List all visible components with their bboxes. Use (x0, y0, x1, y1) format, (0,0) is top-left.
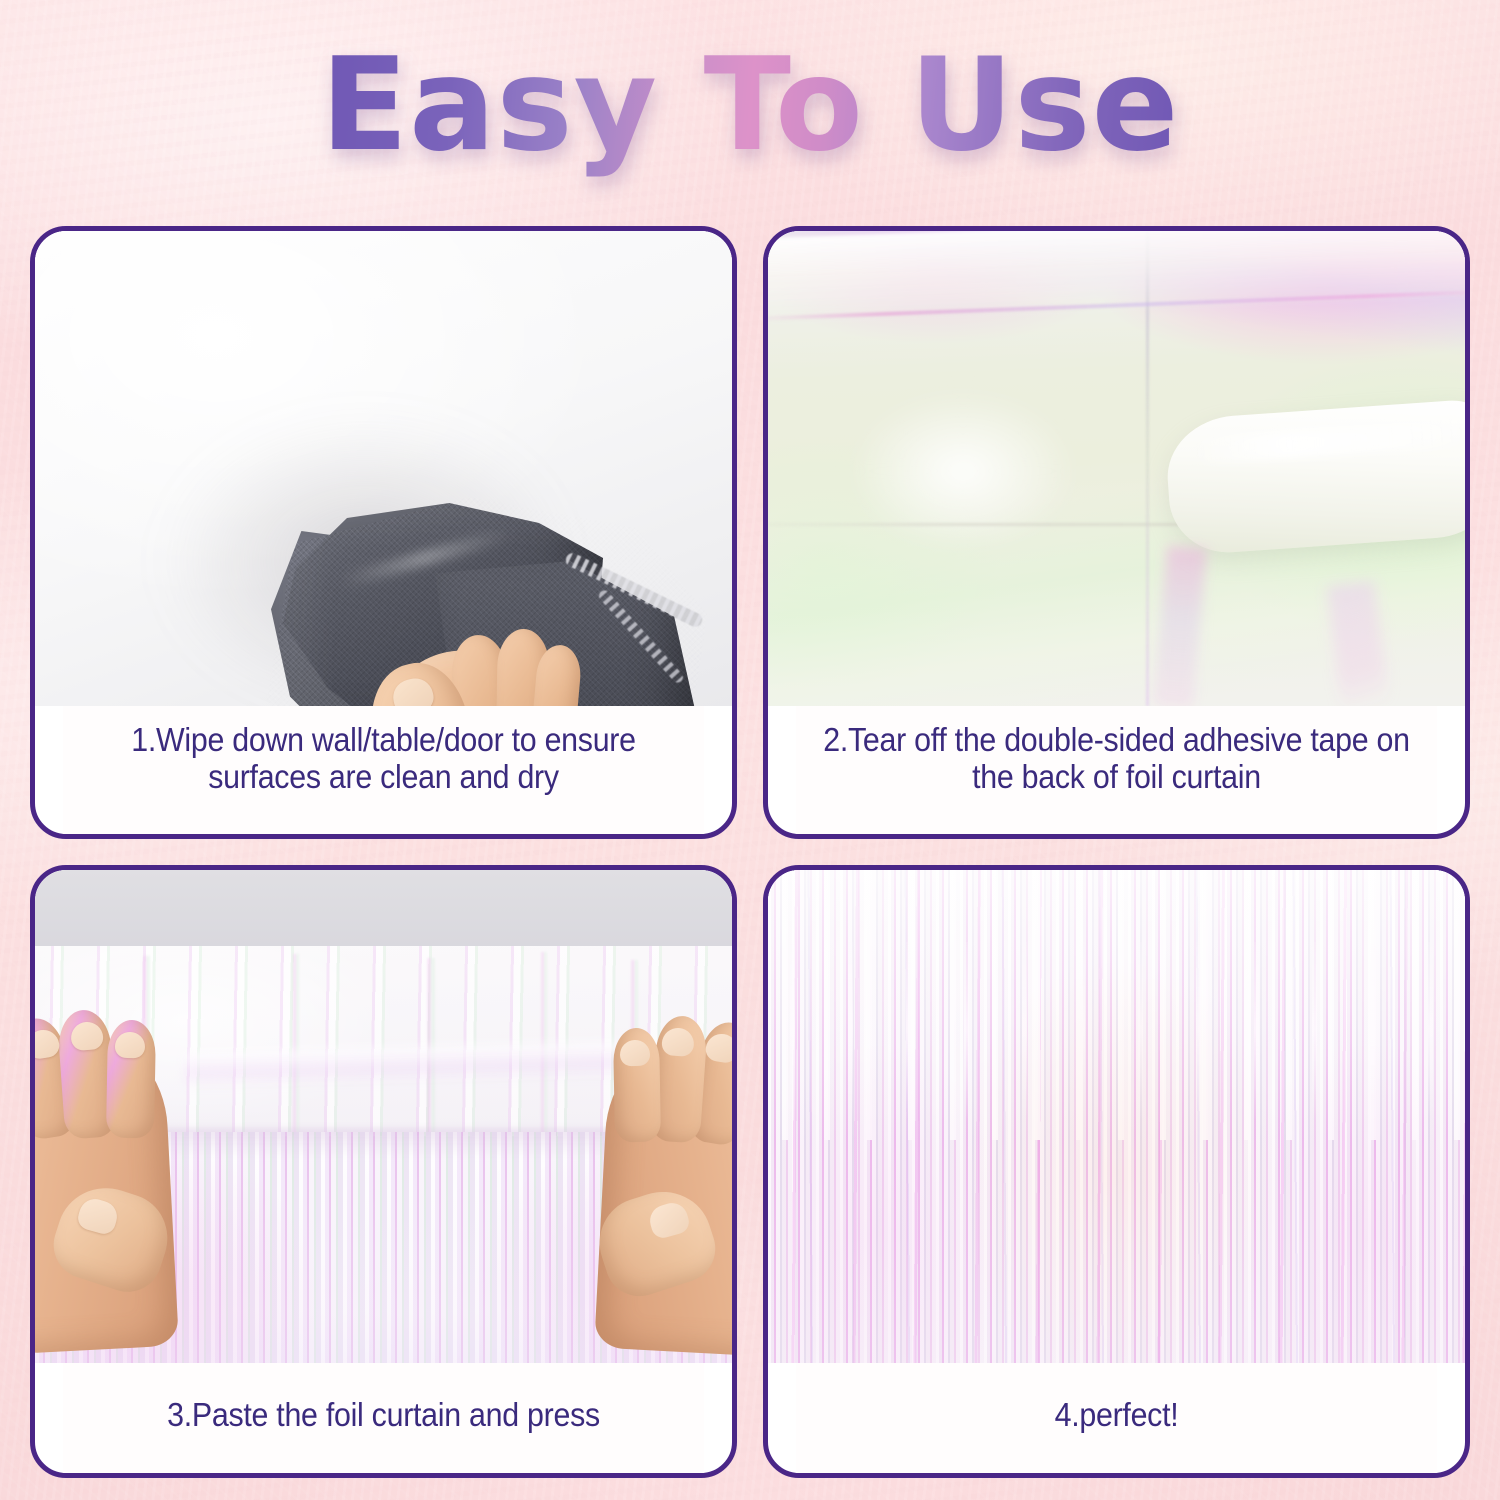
step-1-caption: 1.Wipe down wall/table/door to ensure su… (63, 706, 704, 834)
foil-wrinkle-2 (293, 954, 299, 1136)
step-4-photo (768, 870, 1465, 1363)
step-2-photo (768, 231, 1465, 706)
grey-wall-strip (35, 870, 732, 946)
step-1-photo (35, 231, 732, 706)
step-2-caption: 2.Tear off the double-sided adhesive tap… (796, 706, 1437, 834)
step-card-2[interactable]: 2.Tear off the double-sided adhesive tap… (763, 226, 1470, 839)
title-banner: Easy To Use (0, 0, 1500, 226)
step-4-caption: 4.perfect! (796, 1363, 1437, 1473)
step-card-3[interactable]: 3.Paste the foil curtain and press (30, 865, 737, 1478)
infographic-page: Easy To Use (0, 0, 1500, 1500)
left-ring-fingernail (115, 1032, 145, 1059)
page-title: Easy To Use (313, 42, 1188, 184)
foil-wrinkle-3 (427, 958, 435, 1134)
step-3-caption: 3.Paste the foil curtain and press (63, 1363, 704, 1473)
fringe-color-tint (768, 870, 1465, 1363)
foil-rolled-edge (1164, 398, 1465, 557)
step-card-4[interactable]: 4.perfect! (763, 865, 1470, 1478)
right-ring-fingernail (620, 1040, 650, 1067)
foil-specular-glow (848, 391, 1078, 551)
step-3-photo (35, 870, 732, 1363)
steps-grid: 1.Wipe down wall/table/door to ensure su… (0, 226, 1500, 1500)
step-card-1[interactable]: 1.Wipe down wall/table/door to ensure su… (30, 226, 737, 839)
